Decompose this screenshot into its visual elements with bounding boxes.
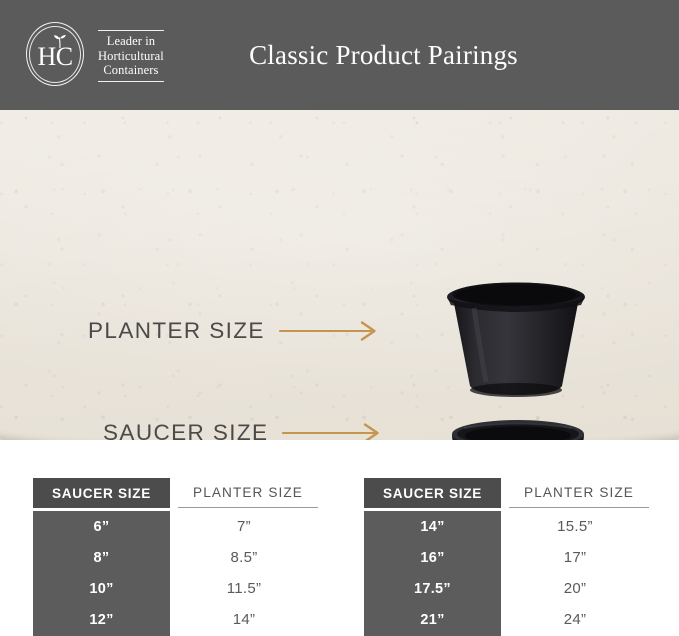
cell-saucer-size: 6”	[33, 511, 170, 542]
cell-planter-size: 15.5”	[501, 511, 649, 542]
arrow-right-icon	[282, 422, 386, 440]
column-header-planter-label: PLANTER SIZE	[524, 485, 634, 500]
planter-product-image	[440, 278, 592, 400]
cell-planter-size: 7”	[170, 511, 318, 542]
cell-saucer-size: 14”	[364, 511, 501, 542]
table-row: 10” 11.5”	[33, 573, 318, 604]
cell-planter-size: 20”	[501, 573, 649, 604]
table-row: 14” 15.5”	[364, 511, 649, 542]
column-header-saucer-size: SAUCER SIZE	[364, 478, 501, 508]
table-header-row: SAUCER SIZE PLANTER SIZE	[33, 478, 318, 508]
size-table-left: SAUCER SIZE PLANTER SIZE 6” 7” 8” 8.5” 1…	[33, 478, 318, 636]
table-row: 8” 8.5”	[33, 542, 318, 573]
table-row: 12” 14”	[33, 604, 318, 635]
column-header-planter-size: PLANTER SIZE	[509, 478, 649, 508]
callout-planter-size: PLANTER SIZE	[88, 318, 383, 344]
callout-saucer-label: SAUCER SIZE	[103, 420, 268, 440]
saucer-product-image	[448, 418, 588, 440]
cell-planter-size: 24”	[501, 604, 649, 635]
tagline-rule-bottom	[98, 81, 164, 82]
column-header-saucer-label: SAUCER SIZE	[383, 486, 482, 501]
arrow-right-icon	[279, 320, 383, 342]
page-title: Classic Product Pairings	[0, 40, 679, 71]
size-table-right: SAUCER SIZE PLANTER SIZE 14” 15.5” 16” 1…	[364, 478, 649, 636]
cell-planter-size: 11.5”	[170, 573, 318, 604]
cell-saucer-size: 17.5”	[364, 573, 501, 604]
size-pairing-tables: SAUCER SIZE PLANTER SIZE 6” 7” 8” 8.5” 1…	[0, 478, 679, 636]
table-row: 16” 17”	[364, 542, 649, 573]
cell-saucer-size: 21”	[364, 604, 501, 635]
table-row: 21” 24”	[364, 604, 649, 635]
product-stage: PLANTER SIZE SAUCER SIZE	[0, 110, 679, 440]
column-header-saucer-label: SAUCER SIZE	[52, 486, 151, 501]
column-header-planter-label: PLANTER SIZE	[193, 485, 303, 500]
table-body: 6” 7” 8” 8.5” 10” 11.5” 12” 14”	[33, 511, 318, 636]
page-header: HC Leader in Horticultural Containers Cl…	[0, 0, 679, 110]
cell-saucer-size: 12”	[33, 604, 170, 635]
callout-saucer-size: SAUCER SIZE	[103, 420, 386, 440]
cell-saucer-size: 10”	[33, 573, 170, 604]
column-header-planter-size: PLANTER SIZE	[178, 478, 318, 508]
cell-saucer-size: 8”	[33, 542, 170, 573]
callout-planter-label: PLANTER SIZE	[88, 318, 265, 344]
cell-planter-size: 14”	[170, 604, 318, 635]
table-body: 14” 15.5” 16” 17” 17.5” 20” 21” 24”	[364, 511, 649, 636]
table-row: 17.5” 20”	[364, 573, 649, 604]
table-row: 6” 7”	[33, 511, 318, 542]
cell-planter-size: 8.5”	[170, 542, 318, 573]
cell-planter-size: 17”	[501, 542, 649, 573]
column-header-saucer-size: SAUCER SIZE	[33, 478, 170, 508]
cell-saucer-size: 16”	[364, 542, 501, 573]
table-header-row: SAUCER SIZE PLANTER SIZE	[364, 478, 649, 508]
